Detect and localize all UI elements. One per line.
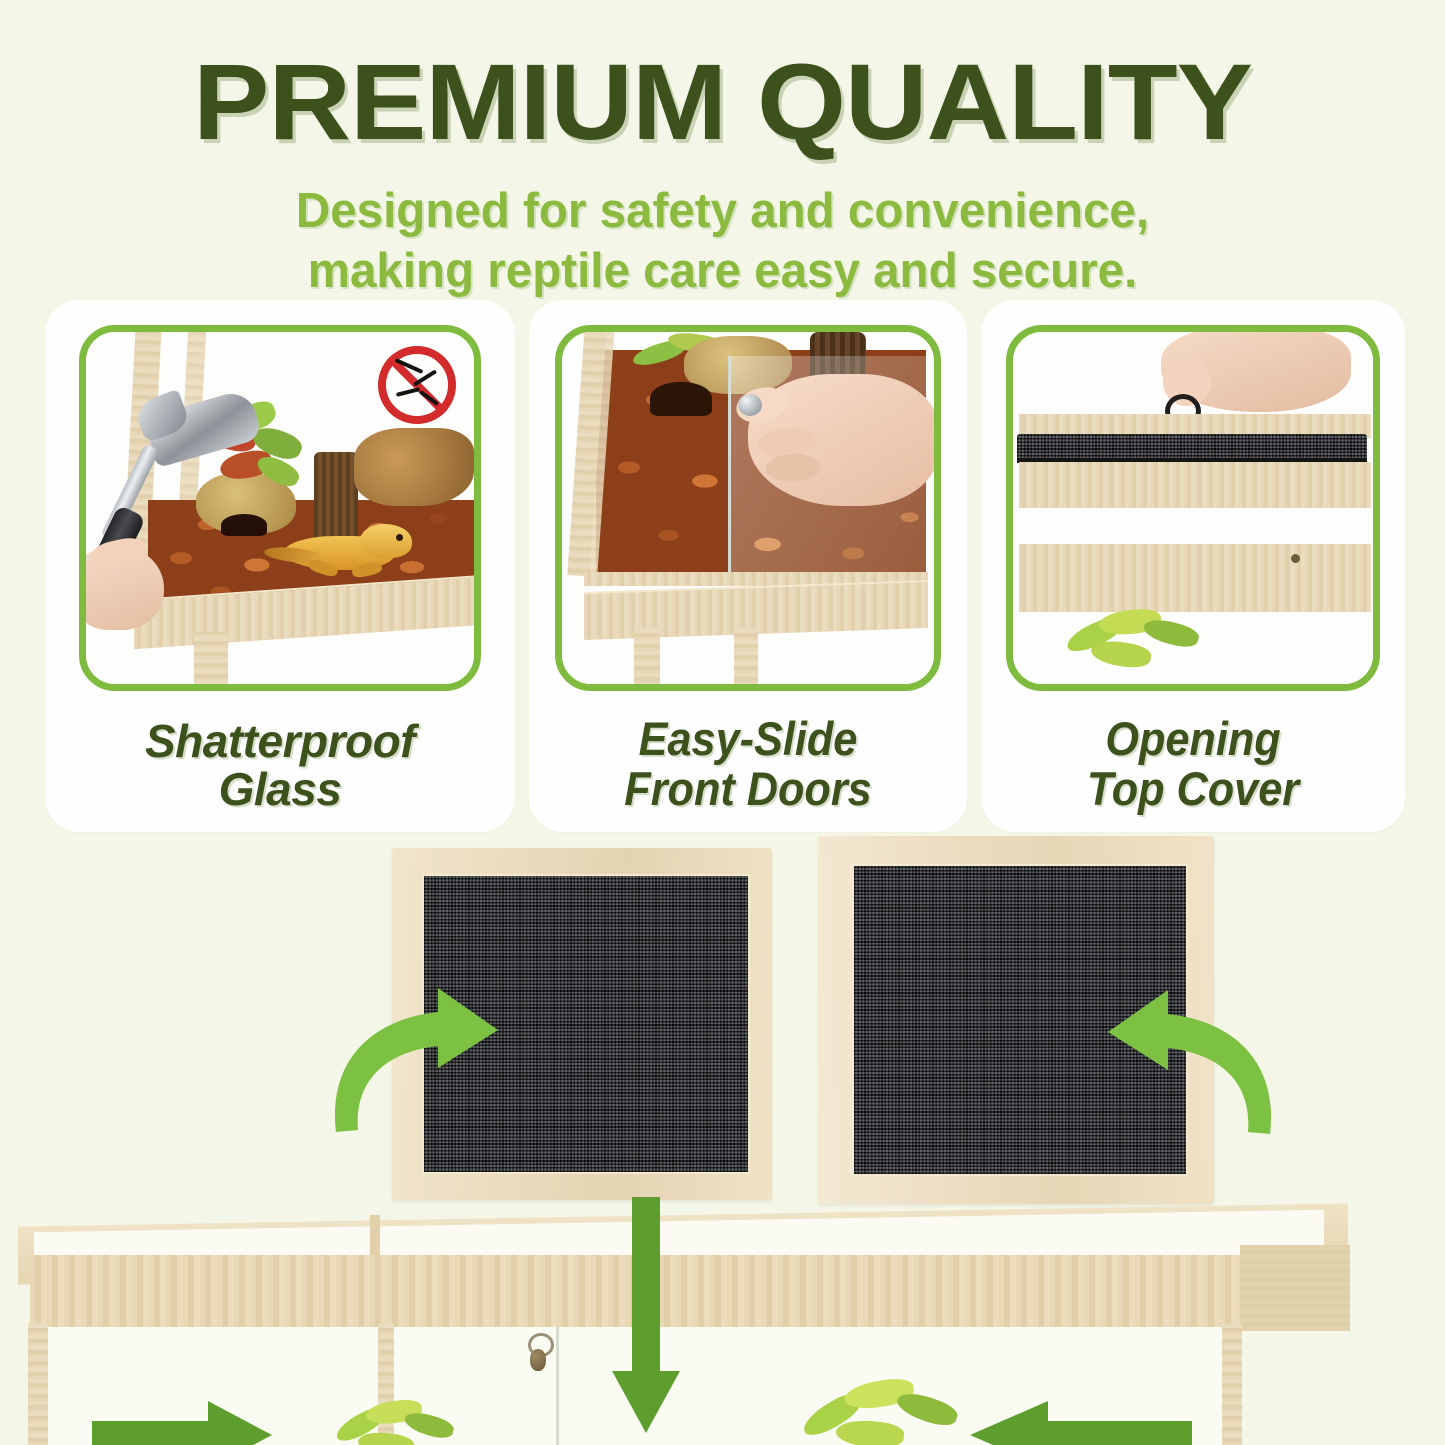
caption-line-1: Easy-Slide <box>547 714 950 764</box>
feature-card-row: Shatterproof Glass <box>45 300 1405 832</box>
caption-line-1: Opening <box>998 714 1388 764</box>
subtitle-line-2: making reptile care easy and secure. <box>22 242 1424 302</box>
frame-post-left <box>28 1323 48 1445</box>
wooden-reptile-terrarium <box>0 1215 1445 1445</box>
feature-card-opening-top-cover[interactable]: Opening Top Cover <box>981 300 1405 832</box>
no-crack-icon <box>378 346 456 424</box>
plant-right <box>800 1377 970 1445</box>
door-knob-icon <box>738 394 762 416</box>
caption-line-2: Top Cover <box>998 764 1388 814</box>
page-subtitle: Designed for safety and convenience, mak… <box>22 182 1424 302</box>
subtitle-line-1: Designed for safety and convenience, <box>22 182 1424 242</box>
feature-photo-shatterproof-glass <box>79 325 481 691</box>
page-title: PREMIUM QUALITY <box>0 48 1445 156</box>
curved-arrow-left <box>318 946 518 1146</box>
caption-line-2: Glass <box>45 765 515 814</box>
feature-caption-shatterproof-glass: Shatterproof Glass <box>45 717 515 815</box>
frame-post-right <box>1222 1323 1242 1445</box>
straight-arrow-center <box>606 1197 686 1437</box>
infographic-canvas: PREMIUM QUALITY Designed for safety and … <box>0 0 1445 1445</box>
feature-photo-easy-slide-front-doors <box>555 325 941 691</box>
feature-photo-opening-top-cover <box>1006 325 1380 691</box>
straight-arrow-right <box>952 1395 1192 1445</box>
feature-card-shatterproof-glass[interactable]: Shatterproof Glass <box>45 300 515 832</box>
caption-line-1: Shatterproof <box>45 717 515 766</box>
straight-arrow-left <box>92 1395 292 1445</box>
curved-arrow-right <box>1088 948 1288 1148</box>
feature-caption-easy-slide-front-doors: Easy-Slide Front Doors <box>547 714 950 814</box>
caption-line-2: Front Doors <box>547 764 950 814</box>
plant-left <box>330 1393 460 1445</box>
feature-card-easy-slide-front-doors[interactable]: Easy-Slide Front Doors <box>529 300 967 832</box>
feature-caption-opening-top-cover: Opening Top Cover <box>998 714 1388 814</box>
